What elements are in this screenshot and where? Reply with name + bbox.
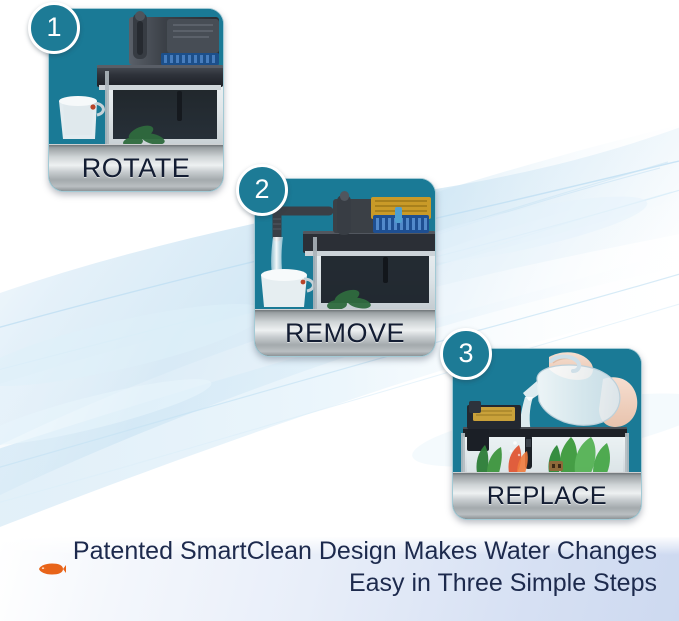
step-label-rotate: ROTATE: [82, 155, 191, 182]
caption-line-1: Patented SmartClean Design Makes Water C…: [0, 536, 657, 568]
step-label-bar-replace: REPLACE: [453, 472, 641, 519]
caption-block: Patented SmartClean Design Makes Water C…: [0, 536, 679, 599]
fish-icon: [36, 562, 66, 576]
infographic-stage: ROTATE 1: [0, 0, 679, 621]
step-label-bar-rotate: ROTATE: [49, 144, 223, 191]
step-number-3: 3: [458, 340, 473, 367]
caption-line-2: Easy in Three Simple Steps: [0, 568, 657, 600]
step-label-replace: REPLACE: [487, 484, 607, 509]
step-label-remove: REMOVE: [285, 320, 405, 347]
step-badge-3: 3: [440, 328, 492, 380]
step-number-1: 1: [46, 14, 61, 41]
step-badge-2: 2: [236, 164, 288, 216]
step-label-bar-remove: REMOVE: [255, 309, 435, 356]
step-number-2: 2: [254, 176, 269, 203]
step-badge-1: 1: [28, 2, 80, 54]
